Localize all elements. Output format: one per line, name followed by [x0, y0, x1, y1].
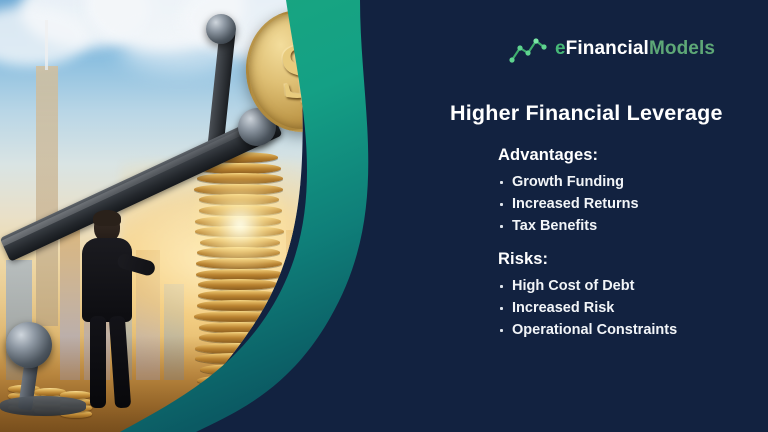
coin: [325, 353, 365, 362]
building: [286, 230, 312, 380]
figure-leg: [109, 316, 131, 409]
businessman-figure: [72, 212, 146, 408]
coin: [242, 393, 276, 401]
logo-text-models: Models: [649, 38, 715, 59]
coin: [292, 371, 332, 380]
list-item: Tax Benefits: [498, 215, 768, 237]
leverage-illustration: $: [0, 0, 420, 432]
risks-section: Risks: High Cost of Debt Increased Risk …: [498, 250, 768, 341]
coin: [270, 408, 304, 416]
figure-hair: [93, 210, 121, 226]
risks-heading: Risks:: [498, 250, 768, 269]
bullet-dot-icon: [500, 285, 503, 288]
building: [282, 306, 296, 380]
coin: [195, 353, 284, 364]
content-panel: eFinancialModels Higher Financial Levera…: [430, 0, 768, 432]
list-item: Growth Funding: [498, 171, 768, 193]
lever-pivot-ball: [206, 14, 236, 44]
coin: [325, 381, 365, 390]
advantages-section: Advantages: Growth Funding Increased Ret…: [498, 146, 768, 237]
coin: [348, 328, 386, 337]
coin: [196, 385, 282, 396]
sun-burst: [180, 180, 300, 270]
coin: [270, 402, 304, 410]
coin: [379, 359, 417, 368]
logo-wordmark: eFinancialModels: [555, 38, 715, 60]
cloud-shape: [300, 0, 420, 62]
coin: [379, 331, 417, 340]
coin: [197, 375, 280, 386]
coin: [195, 343, 281, 354]
dollar-coin: $: [240, 5, 360, 138]
list-item: Increased Returns: [498, 193, 768, 215]
coin: [200, 364, 280, 375]
list-item-label: Growth Funding: [512, 171, 624, 193]
coin: [358, 363, 398, 372]
slide-canvas: $: [0, 0, 768, 432]
line-chart-logo-icon: [508, 34, 548, 64]
dollar-sign-icon: $: [243, 8, 357, 134]
coin: [379, 352, 417, 361]
bullet-dot-icon: [500, 329, 503, 332]
coin: [379, 317, 417, 326]
coin: [199, 332, 282, 343]
bullet-dot-icon: [500, 307, 503, 310]
list-item: Operational Constraints: [498, 319, 768, 341]
coin: [358, 349, 398, 358]
building: [340, 310, 352, 380]
coin: [196, 269, 285, 280]
coin: [214, 390, 248, 398]
coin: [358, 377, 398, 386]
coin: [198, 290, 281, 301]
coin: [242, 399, 276, 407]
logo-text-e: e: [555, 38, 566, 59]
coin: [379, 338, 417, 347]
coin: [292, 350, 332, 359]
coin: [358, 370, 398, 379]
building: [372, 272, 398, 380]
coin: [325, 367, 365, 376]
coin: [214, 383, 248, 391]
coin: [270, 396, 304, 404]
figure-leg: [90, 316, 106, 408]
figure-torso: [82, 238, 132, 322]
coin: [325, 360, 365, 369]
efinancialmodels-logo[interactable]: eFinancialModels: [508, 34, 715, 64]
coin: [292, 343, 332, 352]
coin: [194, 311, 283, 322]
coin: [292, 357, 332, 366]
coin: [348, 314, 386, 323]
coin: [348, 356, 386, 365]
coin: [358, 384, 398, 393]
list-item-label: High Cost of Debt: [512, 275, 634, 297]
page-title: Higher Financial Leverage: [450, 101, 768, 126]
building: [300, 184, 316, 380]
coin: [197, 300, 283, 311]
coin: [348, 342, 386, 351]
skyscraper-tower: [36, 66, 58, 326]
bullet-dot-icon: [500, 225, 503, 228]
coin: [325, 346, 365, 355]
coin: [214, 402, 248, 410]
coin: [270, 389, 304, 397]
coin: [348, 321, 386, 330]
list-item: Increased Risk: [498, 297, 768, 319]
coin: [199, 322, 279, 333]
coin: [348, 335, 386, 344]
coin: [292, 364, 332, 373]
coin: [214, 396, 248, 404]
coin: [379, 324, 417, 333]
coin: [325, 374, 365, 383]
coin: [348, 349, 386, 358]
list-item: High Cost of Debt: [498, 275, 768, 297]
logo-text-financial: Financial: [566, 38, 649, 59]
coin: [358, 356, 398, 365]
building: [318, 256, 346, 380]
risks-list: High Cost of Debt Increased Risk Operati…: [498, 275, 768, 341]
bullet-dot-icon: [500, 203, 503, 206]
coin: [242, 386, 276, 394]
bullet-dot-icon: [500, 181, 503, 184]
list-item-label: Increased Risk: [512, 297, 614, 319]
advantages-list: Growth Funding Increased Returns Tax Ben…: [498, 171, 768, 237]
list-item-label: Tax Benefits: [512, 215, 597, 237]
lever-pivot-ball: [6, 322, 52, 368]
advantages-heading: Advantages:: [498, 146, 768, 165]
coin: [198, 279, 278, 290]
list-item-label: Operational Constraints: [512, 319, 677, 341]
coin: [242, 405, 276, 413]
coin: [292, 378, 332, 387]
list-item-label: Increased Returns: [512, 193, 639, 215]
building: [348, 220, 370, 380]
coin: [379, 345, 417, 354]
